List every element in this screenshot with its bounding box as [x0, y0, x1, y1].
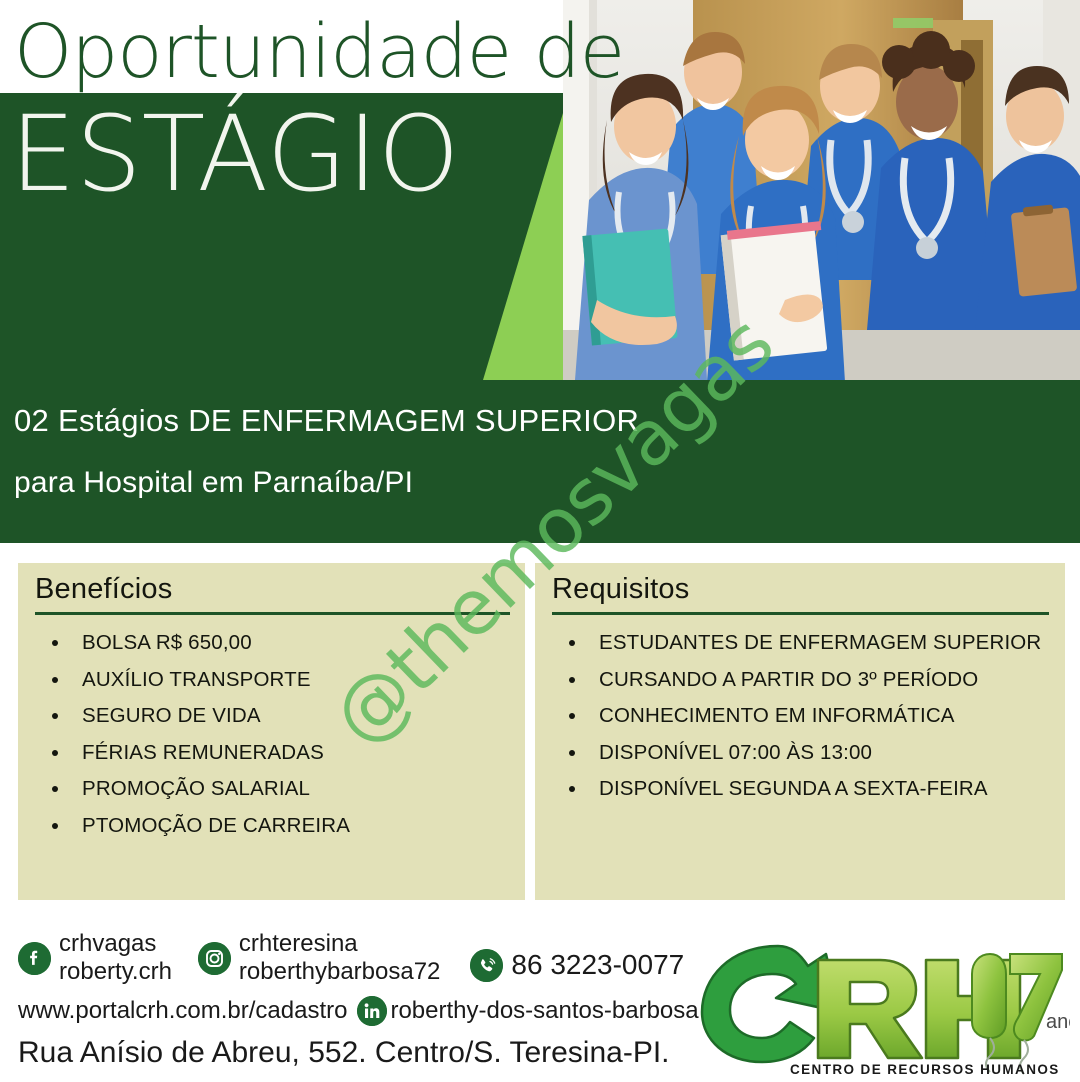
contact-row-secondary: www.portalcrh.com.br/cadastro roberthy-d… — [18, 996, 699, 1026]
bullet-icon — [569, 713, 575, 719]
website-url[interactable]: www.portalcrh.com.br/cadastro — [18, 997, 347, 1025]
headline-main-text: ESTÁGIO — [10, 96, 460, 212]
bullet-icon — [52, 823, 58, 829]
job-title-text: 02 Estágios DE ENFERMAGEM SUPERIOR — [14, 400, 639, 442]
contact-row-primary: crhvagas roberty.crh crhteresina rober — [18, 930, 684, 986]
benefit-label: SEGURO DE VIDA — [82, 704, 261, 727]
benefit-label: PTOMOÇÃO DE CARREIRA — [82, 814, 350, 837]
bullet-icon — [52, 713, 58, 719]
requirements-panel-title: Requisitos — [552, 571, 689, 607]
bullet-icon — [52, 750, 58, 756]
requirement-label: DISPONÍVEL SEGUNDA A SEXTA-FEIRA — [599, 777, 988, 800]
bullet-icon — [52, 640, 58, 646]
phone-number: 86 3223-0077 — [511, 949, 684, 981]
benefits-panel: Benefícios BOLSA R$ 650,00 AUXÍLIO TRANS… — [18, 563, 525, 900]
facebook-handles: crhvagas roberty.crh — [59, 930, 172, 986]
instagram-handles: crhteresina roberthybarbosa72 — [239, 930, 440, 986]
logo-tagline: CENTRO DE RECURSOS HUMANOS — [790, 1062, 1060, 1076]
list-item: CURSANDO A PARTIR DO 3º PERÍODO — [552, 662, 1059, 699]
job-location-text: para Hospital em Parnaíba/PI — [14, 463, 413, 503]
list-item: ESTUDANTES DE ENFERMAGEM SUPERIOR — [552, 625, 1059, 662]
benefit-label: FÉRIAS REMUNERADAS — [82, 741, 324, 764]
bullet-icon — [52, 786, 58, 792]
benefit-label: BOLSA R$ 650,00 — [82, 631, 252, 654]
instagram-contact[interactable]: crhteresina roberthybarbosa72 — [198, 930, 440, 986]
job-posting-poster: Oportunidade de ESTÁGIO — [0, 0, 1080, 1082]
requirement-label: CURSANDO A PARTIR DO 3º PERÍODO — [599, 668, 978, 691]
headline-top-text: Oportunidade de — [14, 10, 624, 94]
bullet-icon — [52, 677, 58, 683]
list-item: FÉRIAS REMUNERADAS — [35, 735, 519, 772]
benefits-panel-title: Benefícios — [35, 571, 172, 607]
accent-triangle-shape — [483, 93, 569, 380]
bullet-icon — [569, 750, 575, 756]
list-item: DISPONÍVEL SEGUNDA A SEXTA-FEIRA — [552, 771, 1059, 808]
bullet-icon — [569, 640, 575, 646]
instagram-handle-1: crhteresina — [239, 930, 358, 957]
facebook-handle-1: crhvagas — [59, 930, 156, 957]
bullet-icon — [569, 786, 575, 792]
nursing-students-photo — [563, 0, 1080, 380]
requirements-list: ESTUDANTES DE ENFERMAGEM SUPERIOR CURSAN… — [552, 625, 1059, 808]
benefits-list: BOLSA R$ 650,00 AUXÍLIO TRANSPORTE SEGUR… — [35, 625, 519, 845]
list-item: DISPONÍVEL 07:00 ÀS 13:00 — [552, 735, 1059, 772]
logo-years-word: anos — [1046, 1011, 1070, 1033]
benefit-label: AUXÍLIO TRANSPORTE — [82, 668, 311, 691]
requirement-label: CONHECIMENTO EM INFORMÁTICA — [599, 704, 955, 727]
linkedin-handle[interactable]: roberthy-dos-santos-barbosa — [390, 997, 698, 1025]
facebook-icon[interactable] — [18, 942, 51, 975]
requirement-label: DISPONÍVEL 07:00 ÀS 13:00 — [599, 741, 872, 764]
facebook-handle-2: roberty.crh — [59, 958, 172, 985]
requirements-panel-divider — [552, 612, 1049, 615]
list-item: PROMOÇÃO SALARIAL — [35, 771, 519, 808]
requirements-panel: Requisitos ESTUDANTES DE ENFERMAGEM SUPE… — [535, 563, 1065, 900]
instagram-icon[interactable] — [198, 942, 231, 975]
list-item: AUXÍLIO TRANSPORTE — [35, 662, 519, 699]
crh-logo: anos CENTRO DE RECURSOS HUMANOS — [690, 936, 1070, 1076]
linkedin-icon[interactable] — [357, 996, 387, 1026]
phone-icon[interactable] — [470, 949, 503, 982]
list-item: PTOMOÇÃO DE CARREIRA — [35, 808, 519, 845]
poster-header-section: Oportunidade de ESTÁGIO — [0, 0, 1080, 543]
instagram-handle-2: roberthybarbosa72 — [239, 958, 440, 985]
facebook-contact[interactable]: crhvagas roberty.crh — [18, 930, 172, 986]
benefit-label: PROMOÇÃO SALARIAL — [82, 777, 310, 800]
list-item: SEGURO DE VIDA — [35, 698, 519, 735]
requirement-label: ESTUDANTES DE ENFERMAGEM SUPERIOR — [599, 631, 1041, 654]
benefits-panel-divider — [35, 612, 510, 615]
phone-contact[interactable]: 86 3223-0077 — [470, 949, 684, 982]
list-item: BOLSA R$ 650,00 — [35, 625, 519, 662]
list-item: CONHECIMENTO EM INFORMÁTICA — [552, 698, 1059, 735]
bullet-icon — [569, 677, 575, 683]
company-address: Rua Anísio de Abreu, 552. Centro/S. Tere… — [18, 1034, 670, 1072]
